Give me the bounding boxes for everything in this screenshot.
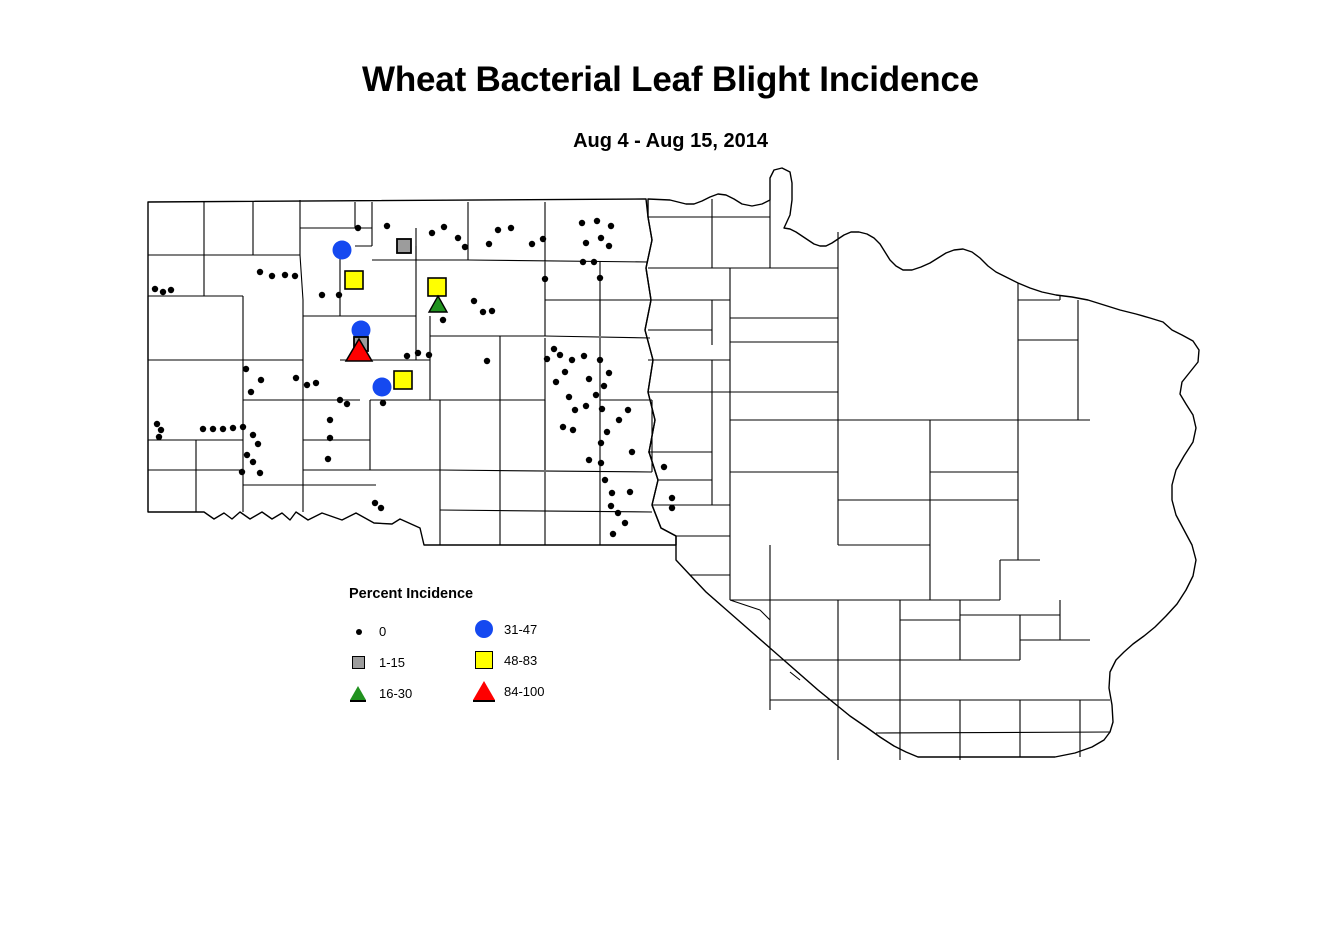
legend-item-48-83[interactable]: 48-83 [472, 649, 537, 671]
map-marker-small-black-dot [629, 449, 635, 455]
map-legend: Percent Incidence 0 1-15 16-30 31-47 48-… [347, 586, 577, 712]
map-marker-small-black-dot [269, 273, 275, 279]
map-marker-small-black-dot [257, 269, 263, 275]
legend-item-0[interactable]: 0 [347, 620, 386, 642]
map-marker-small-black-dot [606, 243, 612, 249]
map-marker-small-black-dot [606, 370, 612, 376]
map-marker-small-black-dot [583, 240, 589, 246]
map-marker-small-black-dot [336, 292, 342, 298]
state-county-map [0, 0, 1341, 926]
map-marker-small-black-dot [508, 225, 514, 231]
legend-label-31-47: 31-47 [504, 622, 537, 637]
map-marker-small-black-dot [220, 426, 226, 432]
map-marker-small-black-dot [293, 375, 299, 381]
map-marker-small-black-dot [255, 441, 261, 447]
map-marker-small-black-dot [304, 382, 310, 388]
map-marker-small-black-dot [608, 223, 614, 229]
map-marker-small-black-dot [544, 356, 550, 362]
map-marker-small-black-dot [152, 286, 158, 292]
legend-label-0: 0 [379, 624, 386, 639]
legend-label-84-100: 84-100 [504, 684, 544, 699]
map-marker-green-triangle [429, 296, 447, 312]
map-marker-small-black-dot [426, 352, 432, 358]
map-marker-small-black-dot [313, 380, 319, 386]
map-marker-small-black-dot [484, 358, 490, 364]
map-marker-small-black-dot [440, 317, 446, 323]
small-black-dot-icon [347, 620, 373, 642]
map-marker-small-black-dot [325, 456, 331, 462]
map-marker-small-black-dot [669, 505, 675, 511]
map-marker-small-black-dot [462, 244, 468, 250]
map-marker-small-black-dot [337, 397, 343, 403]
map-marker-small-black-dot [604, 429, 610, 435]
map-marker-small-black-dot [384, 223, 390, 229]
map-marker-small-black-dot [529, 241, 535, 247]
map-marker-small-black-dot [594, 218, 600, 224]
map-marker-small-black-dot [579, 220, 585, 226]
map-marker-small-black-dot [580, 259, 586, 265]
map-marker-small-black-dot [608, 503, 614, 509]
mn-outline [645, 168, 1199, 757]
map-marker-small-black-dot [609, 490, 615, 496]
map-marker-small-black-dot [319, 292, 325, 298]
map-marker-small-black-dot [627, 489, 633, 495]
map-marker-small-black-dot [168, 287, 174, 293]
map-marker-small-black-dot [495, 227, 501, 233]
map-marker-small-black-dot [429, 230, 435, 236]
map-marker-small-black-dot [597, 357, 603, 363]
map-marker-small-black-dot [542, 276, 548, 282]
map-marker-small-black-dot [601, 383, 607, 389]
red-triangle-icon [472, 680, 498, 702]
map-marker-small-black-dot [240, 424, 246, 430]
map-marker-small-black-dot [486, 241, 492, 247]
map-marker-small-black-dot [154, 421, 160, 427]
yellow-square-icon [472, 649, 498, 671]
map-marker-small-black-dot [230, 425, 236, 431]
blue-circle-icon [472, 618, 498, 640]
map-marker-small-black-dot [282, 272, 288, 278]
map-marker-small-black-dot [355, 225, 361, 231]
map-marker-small-black-dot [244, 452, 250, 458]
map-marker-small-black-dot [586, 376, 592, 382]
map-marker-small-black-dot [597, 275, 603, 281]
map-marker-small-black-dot [156, 434, 162, 440]
map-marker-small-black-dot [258, 377, 264, 383]
map-marker-small-black-dot [239, 469, 245, 475]
map-marker-small-black-dot [566, 394, 572, 400]
map-marker-small-black-dot [599, 406, 605, 412]
legend-item-84-100[interactable]: 84-100 [472, 680, 544, 702]
map-marker-small-black-dot [158, 427, 164, 433]
map-marker-small-black-dot [372, 500, 378, 506]
map-marker-small-black-dot [480, 309, 486, 315]
map-marker-small-black-dot [243, 366, 249, 372]
map-marker-small-black-dot [415, 350, 421, 356]
map-marker-small-black-dot [344, 401, 350, 407]
map-marker-small-black-dot [586, 457, 592, 463]
map-marker-small-black-dot [669, 495, 675, 501]
map-marker-small-black-dot [570, 427, 576, 433]
map-marker-small-black-dot [598, 460, 604, 466]
map-marker-yellow-square [428, 278, 446, 296]
legend-label-16-30: 16-30 [379, 686, 412, 701]
map-marker-small-black-dot [441, 224, 447, 230]
map-marker-yellow-square [394, 371, 412, 389]
map-marker-small-black-dot [471, 298, 477, 304]
map-marker-small-black-dot [160, 289, 166, 295]
legend-items: 0 1-15 16-30 31-47 48-83 84-100 [347, 620, 577, 710]
map-marker-small-black-dot [210, 426, 216, 432]
map-marker-small-black-dot [661, 464, 667, 470]
map-marker-small-black-dot [572, 407, 578, 413]
map-marker-small-black-dot [615, 510, 621, 516]
map-marker-blue-circle [333, 241, 352, 260]
legend-item-16-30[interactable]: 16-30 [347, 682, 412, 704]
map-marker-small-black-dot [455, 235, 461, 241]
map-marker-small-black-dot [625, 407, 631, 413]
minnesota-counties [645, 168, 1199, 760]
map-marker-yellow-square [345, 271, 363, 289]
map-marker-small-black-dot [327, 435, 333, 441]
map-marker-blue-circle [373, 378, 392, 397]
map-marker-small-black-dot [248, 389, 254, 395]
map-marker-small-black-dot [380, 400, 386, 406]
map-marker-small-black-dot [250, 459, 256, 465]
map-marker-small-black-dot [569, 357, 575, 363]
map-canvas [0, 0, 1341, 926]
legend-label-48-83: 48-83 [504, 653, 537, 668]
map-page: Wheat Bacterial Leaf Blight Incidence Au… [0, 0, 1341, 926]
legend-item-31-47[interactable]: 31-47 [472, 618, 537, 640]
map-marker-gray-square [397, 239, 411, 253]
gray-square-icon [347, 651, 373, 673]
map-marker-small-black-dot [622, 520, 628, 526]
map-marker-small-black-dot [598, 235, 604, 241]
map-marker-small-black-dot [489, 308, 495, 314]
map-marker-small-black-dot [562, 369, 568, 375]
incidence-markers [152, 218, 675, 537]
map-marker-small-black-dot [551, 346, 557, 352]
map-marker-small-black-dot [292, 273, 298, 279]
map-marker-small-black-dot [327, 417, 333, 423]
map-marker-small-black-dot [593, 392, 599, 398]
map-marker-small-black-dot [583, 403, 589, 409]
green-triangle-icon [347, 682, 373, 704]
map-marker-small-black-dot [616, 417, 622, 423]
legend-item-1-15[interactable]: 1-15 [347, 651, 405, 673]
map-marker-small-black-dot [250, 432, 256, 438]
map-marker-small-black-dot [591, 259, 597, 265]
legend-label-1-15: 1-15 [379, 655, 405, 670]
map-marker-small-black-dot [257, 470, 263, 476]
map-marker-small-black-dot [378, 505, 384, 511]
map-marker-small-black-dot [540, 236, 546, 242]
map-marker-small-black-dot [581, 353, 587, 359]
map-marker-small-black-dot [560, 424, 566, 430]
map-marker-small-black-dot [200, 426, 206, 432]
map-marker-small-black-dot [602, 477, 608, 483]
legend-title: Percent Incidence [349, 586, 577, 602]
map-marker-small-black-dot [598, 440, 604, 446]
map-marker-small-black-dot [553, 379, 559, 385]
map-marker-small-black-dot [610, 531, 616, 537]
map-marker-small-black-dot [557, 352, 563, 358]
map-marker-small-black-dot [404, 353, 410, 359]
